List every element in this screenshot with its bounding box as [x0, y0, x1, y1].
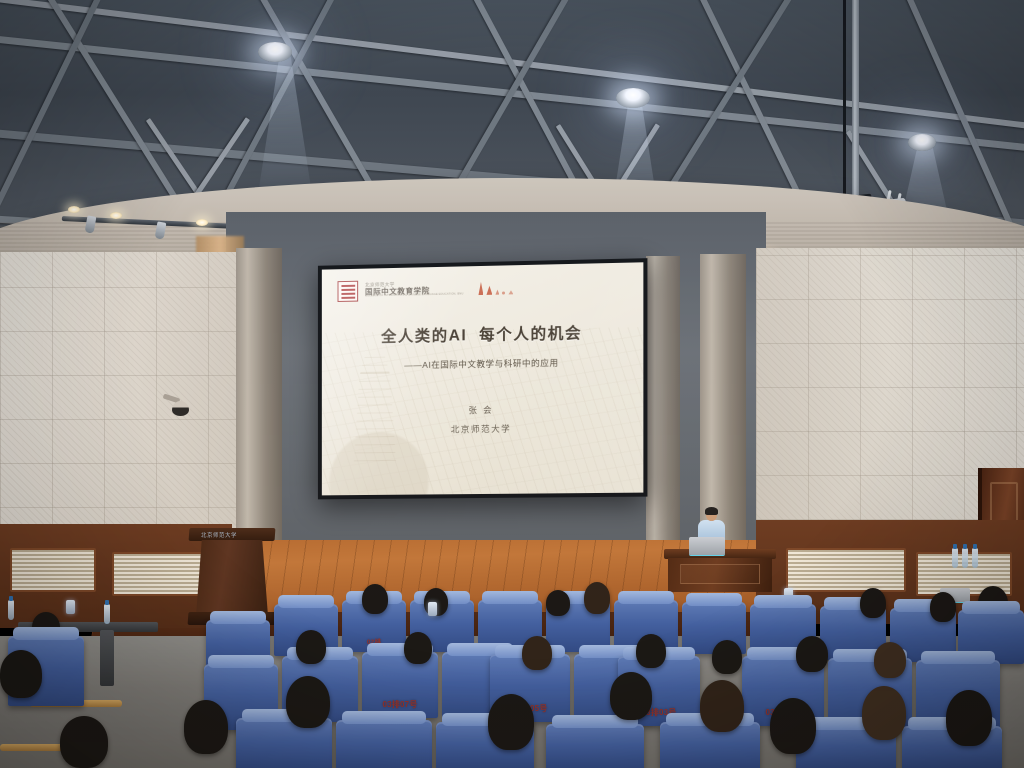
lectern-plaque: 北京师范大学	[201, 531, 237, 539]
audience-head	[712, 640, 742, 674]
slide-logo: 北京师范大学 国际中文教育学院 COLLEGE OF INTERNATIONAL…	[338, 275, 628, 302]
audience-head	[286, 676, 330, 728]
ceiling-downlight	[908, 134, 936, 151]
projection-screen: 北京师范大学 国际中文教育学院 COLLEGE OF INTERNATIONAL…	[318, 258, 648, 499]
audience-head	[296, 630, 326, 664]
operator-desk	[668, 558, 772, 592]
wall-texture	[0, 252, 236, 552]
water-bottle	[972, 548, 978, 568]
calligraphy-mark-icon	[478, 281, 513, 295]
left-wall-panels	[0, 252, 236, 552]
water-bottle	[952, 548, 958, 568]
slide-speaker-name: 张 会	[338, 402, 628, 418]
audience-head	[610, 672, 652, 720]
front-left-table-leg	[100, 630, 114, 686]
audience-head	[362, 584, 388, 614]
phone-held-up[interactable]	[66, 600, 75, 614]
water-bottle	[8, 600, 14, 620]
audience-head	[184, 700, 228, 754]
audience-head	[862, 686, 906, 740]
air-vent-grille	[786, 548, 906, 592]
slide-subtitle: ——AI在国际中文教学与科研中的应用	[338, 356, 628, 373]
water-bottle	[104, 604, 110, 624]
audience-head	[546, 590, 570, 616]
logo-school-name-en: COLLEGE OF INTERNATIONAL CHINESE LANGUAG…	[365, 294, 463, 299]
table-row[interactable]	[546, 724, 644, 768]
audience-head	[584, 582, 610, 614]
ceiling-downlight	[616, 88, 650, 108]
audience-head	[874, 642, 906, 678]
water-bottle	[962, 548, 968, 568]
audience-head	[700, 680, 744, 732]
pillar-center-right	[646, 256, 680, 552]
desk-panel	[680, 564, 760, 584]
ceiling-downlight	[258, 42, 292, 62]
pillar-left	[236, 248, 282, 560]
seat-number: 03排07号	[362, 699, 438, 710]
phone-in-hand[interactable]	[428, 602, 437, 616]
slide-title: 全人类的AI 每个人的机会	[338, 320, 628, 347]
audience-head	[946, 690, 992, 746]
audience-head	[60, 716, 108, 768]
seal-icon	[338, 281, 359, 302]
lectern	[196, 540, 268, 616]
audience-head	[860, 588, 886, 618]
table-row[interactable]	[336, 720, 432, 768]
audience-head	[636, 634, 666, 668]
audience-head	[770, 698, 816, 754]
audience-head	[796, 636, 828, 672]
slide-organization: 北京师范大学	[338, 421, 628, 437]
audience-head	[404, 632, 432, 664]
audience-head	[522, 636, 552, 670]
audience-head	[488, 694, 534, 750]
audience-head	[930, 592, 956, 622]
projector-pole	[852, 0, 859, 208]
slide-content: 北京师范大学 国际中文教育学院 COLLEGE OF INTERNATIONAL…	[322, 262, 644, 495]
audience-head	[0, 650, 42, 698]
presenter-laptop	[689, 537, 725, 555]
lecture-hall-photo: 北京师范大学 国际中文教育学院 COLLEGE OF INTERNATIONAL…	[0, 0, 1024, 768]
table-row[interactable]: 03排07号	[362, 652, 438, 718]
air-vent-grille	[10, 548, 96, 592]
security-camera-icon	[172, 401, 189, 416]
